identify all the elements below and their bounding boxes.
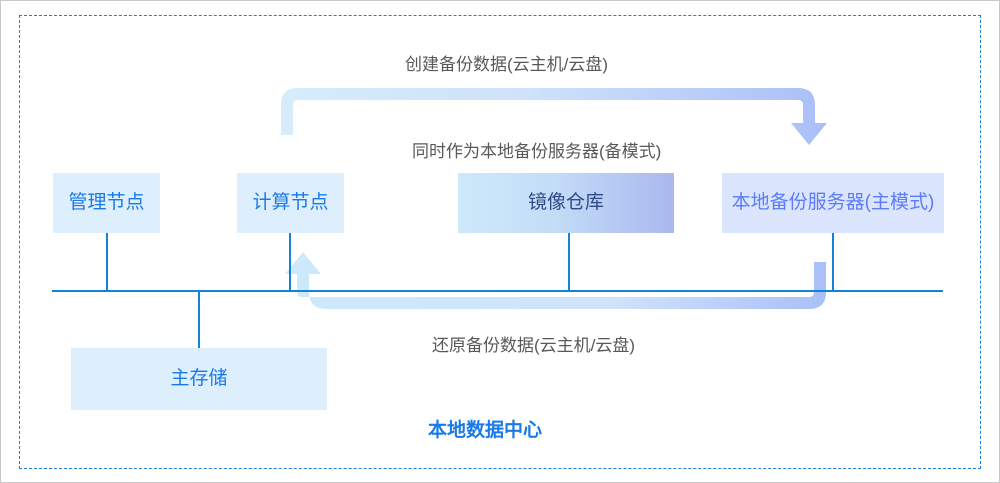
node-local-backup-server[interactable]: 本地备份服务器(主模式): [722, 173, 944, 233]
caption-create-backup-text: 创建备份数据(云主机/云盘): [405, 55, 608, 74]
diagram-canvas: 管理节点 计算节点 镜像仓库 本地备份服务器(主模式) 主存储 创建备份数据(云…: [0, 0, 1000, 483]
node-image-repository[interactable]: 镜像仓库: [458, 173, 674, 233]
connector-primary-storage: [198, 290, 200, 348]
local-data-center-title-text: 本地数据中心: [428, 420, 542, 441]
node-compute-node[interactable]: 计算节点: [237, 173, 344, 233]
data-center-bus-line: [52, 290, 943, 292]
node-management-node[interactable]: 管理节点: [53, 173, 160, 233]
caption-restore-backup: 还原备份数据(云主机/云盘): [432, 336, 635, 356]
node-management-node-label: 管理节点: [68, 192, 144, 215]
node-image-repository-label: 镜像仓库: [528, 192, 604, 215]
caption-also-serves-as-text: 同时作为本地备份服务器(备模式): [412, 142, 661, 161]
caption-restore-backup-text: 还原备份数据(云主机/云盘): [432, 336, 635, 355]
connector-image-repository: [568, 232, 570, 291]
connector-compute-node: [289, 232, 291, 291]
local-data-center-title: 本地数据中心: [428, 420, 542, 443]
node-primary-storage-label: 主存储: [170, 368, 227, 391]
node-primary-storage[interactable]: 主存储: [71, 348, 327, 410]
node-compute-node-label: 计算节点: [252, 192, 328, 215]
node-local-backup-server-label: 本地备份服务器(主模式): [732, 192, 935, 215]
caption-create-backup: 创建备份数据(云主机/云盘): [405, 55, 608, 75]
connector-management-node: [106, 232, 108, 291]
connector-local-backup-server: [832, 232, 834, 291]
caption-also-serves-as: 同时作为本地备份服务器(备模式): [412, 142, 661, 162]
